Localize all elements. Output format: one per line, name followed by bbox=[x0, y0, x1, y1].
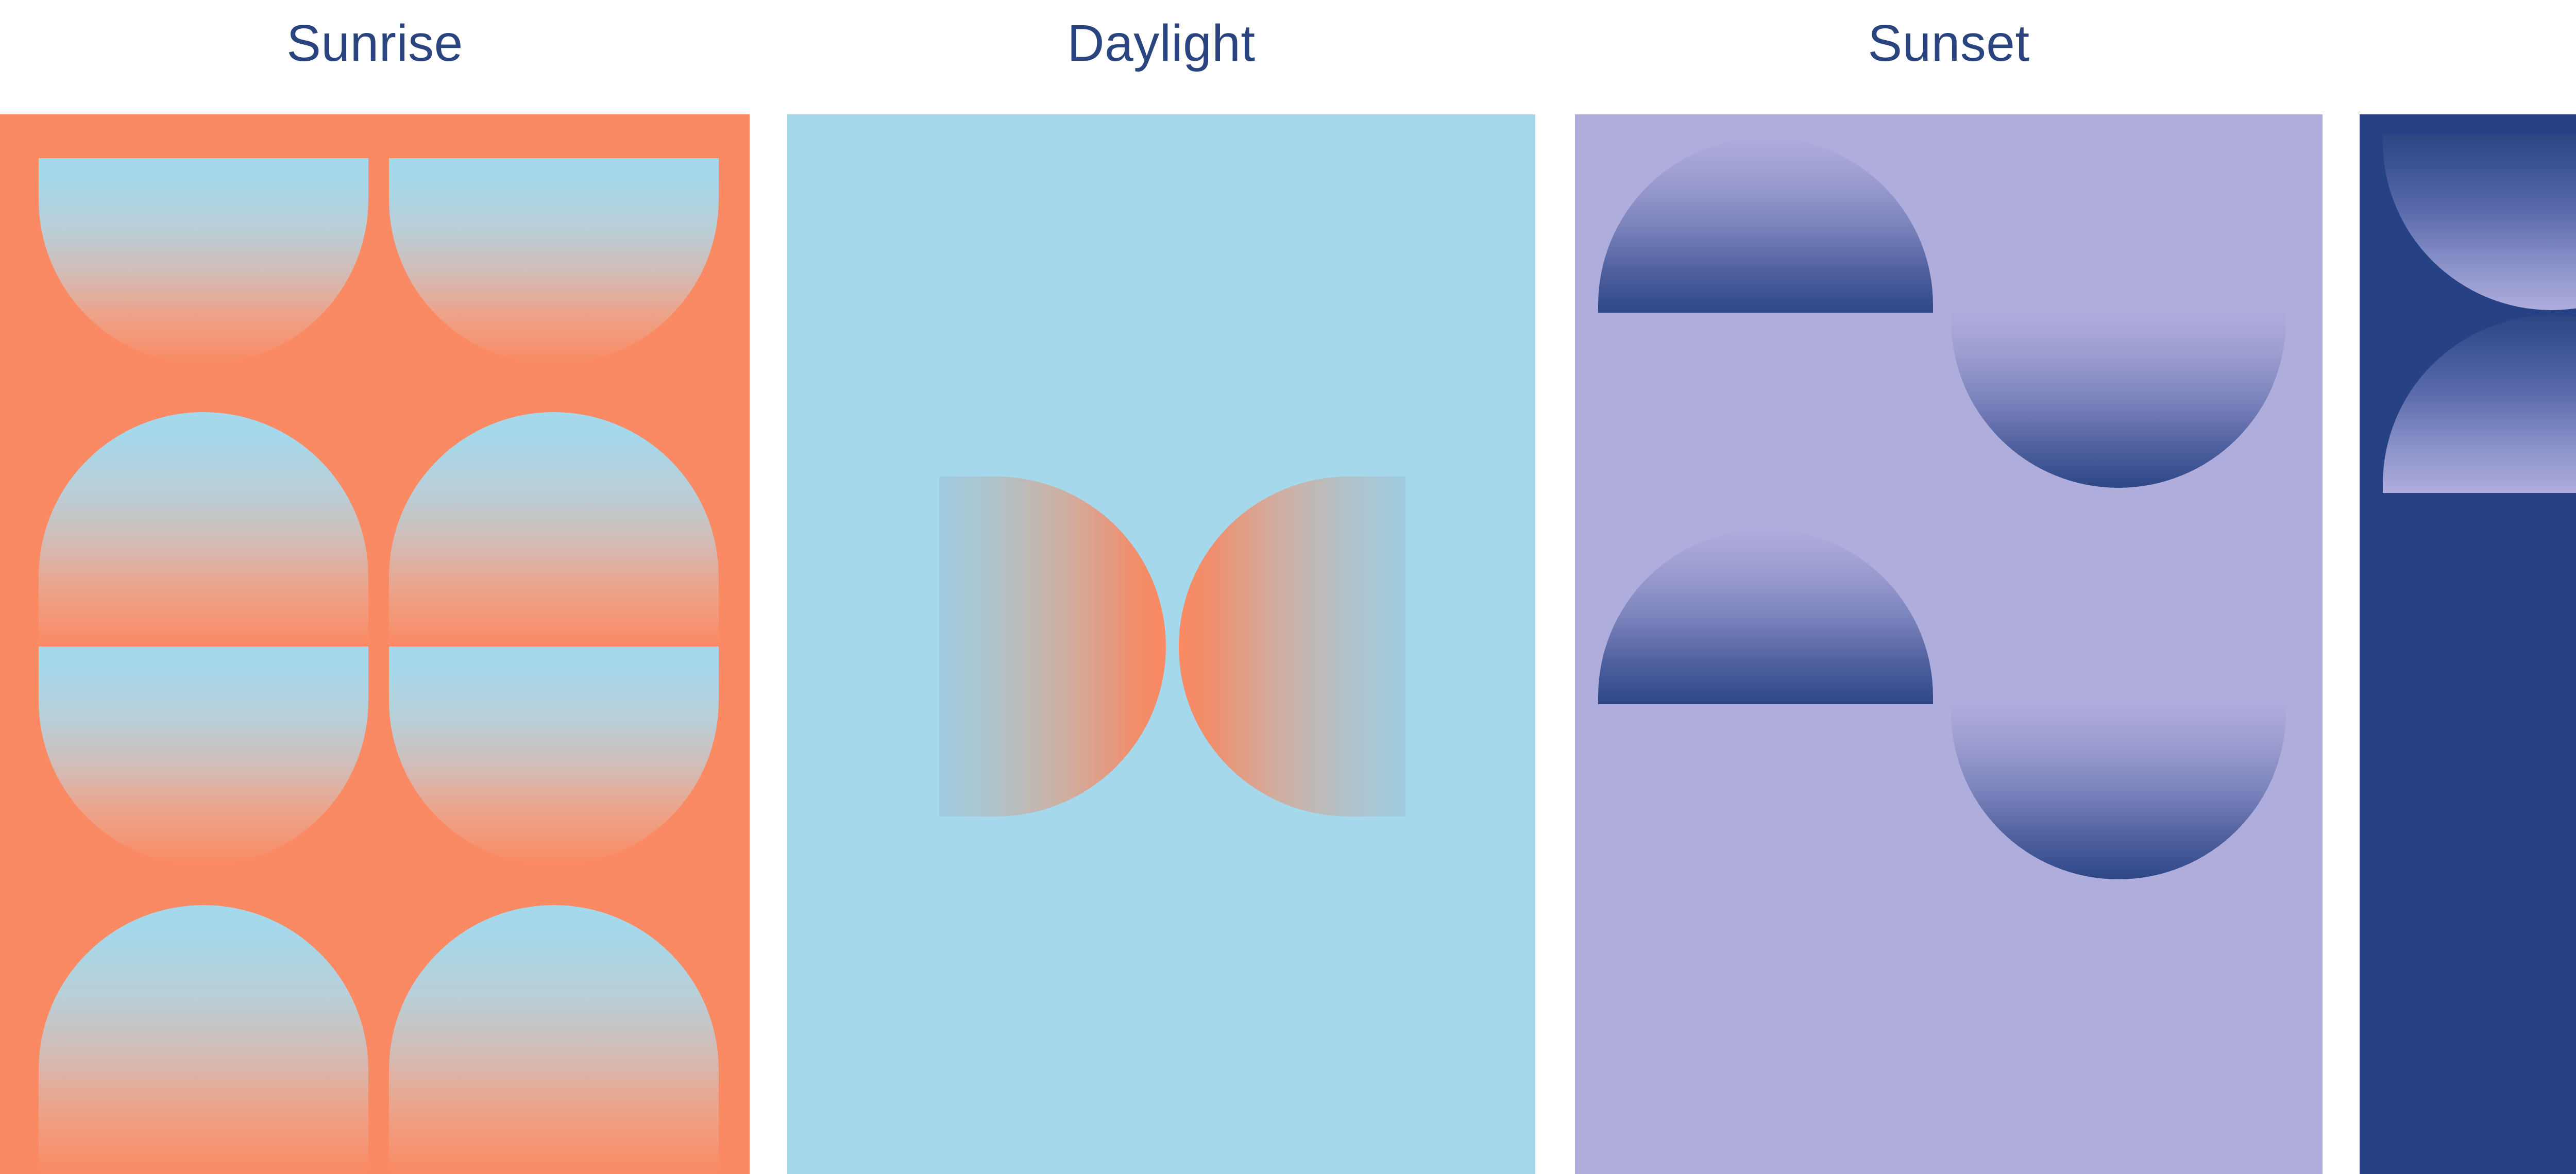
panel-title-sunrise: Sunrise bbox=[0, 12, 750, 74]
shape-sunrise-row2-col1 bbox=[39, 412, 368, 646]
poster-grid-canvas: Sunrise Daylight Sunset Night bbox=[0, 0, 2576, 1174]
panel-title-sunset: Sunset bbox=[1575, 12, 2323, 74]
shape-sunset-lower-left-arch bbox=[1598, 529, 1933, 704]
panel-sunrise[interactable] bbox=[0, 114, 750, 1174]
shape-daylight-left-half-capsule bbox=[939, 477, 1166, 816]
shape-sunset-bottom-right-cup bbox=[1951, 702, 2286, 879]
shape-sunrise-row3-col1 bbox=[39, 646, 368, 865]
panel-sunset[interactable] bbox=[1575, 114, 2323, 1174]
shape-sunrise-row1-col1 bbox=[39, 158, 368, 364]
shape-daylight-right-half-capsule bbox=[1179, 477, 1405, 816]
shape-sunrise-row4-col1 bbox=[39, 905, 368, 1174]
panel-night[interactable] bbox=[2360, 114, 2576, 1174]
shape-sunset-top-left-arch bbox=[1598, 138, 1933, 313]
panel-title-night: Night bbox=[2360, 12, 2576, 74]
shape-sunrise-row4-col2 bbox=[389, 905, 719, 1174]
shape-night-top-left-cup bbox=[2383, 135, 2576, 310]
shape-night-upper-left-arch bbox=[2383, 315, 2576, 493]
shape-sunrise-row3-col2 bbox=[389, 646, 719, 865]
shape-sunset-upper-right-cup bbox=[1951, 313, 2286, 488]
shape-sunrise-row1-col2 bbox=[389, 158, 719, 364]
shape-sunrise-row2-col2 bbox=[389, 412, 719, 646]
panel-title-daylight: Daylight bbox=[787, 12, 1535, 74]
panel-daylight[interactable] bbox=[787, 114, 1535, 1174]
